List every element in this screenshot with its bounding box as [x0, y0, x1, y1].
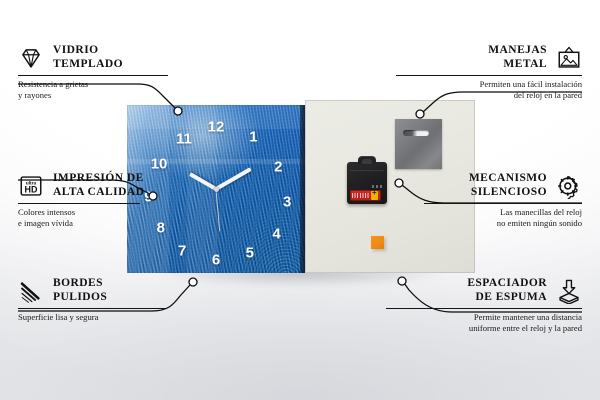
callout-rule-mecanismo	[424, 203, 582, 204]
clock-numeral-4: 4	[272, 227, 280, 242]
clock-numeral-2: 2	[274, 160, 282, 175]
movement-hanger-tab	[358, 156, 376, 165]
callout-title-vidrio-templado: VIDRIO TEMPLADO	[53, 44, 123, 71]
callout-header-mecanismo: MECANISMO SILENCIOSO	[424, 172, 582, 199]
callout-rule-impresion	[18, 203, 140, 204]
ultra-hd-icon: ultra HD	[18, 173, 44, 199]
product-photo: 12 1 2 3 4 5 6 7 8 9 10 11	[127, 105, 475, 273]
hanger-keyhole-slot	[403, 130, 429, 136]
callout-espaciador-espuma[interactable]: ESPACIADOR DE ESPUMA Permite mantener un…	[386, 277, 582, 333]
callout-rule-espaciador	[386, 308, 582, 309]
metal-hanger-plate	[395, 119, 442, 169]
callout-header-impresion: ultra HD IMPRESIÓN DE ALTA CALIDAD	[18, 172, 144, 199]
callout-title-mecanismo: MECANISMO SILENCIOSO	[469, 172, 547, 199]
callout-title-bordes: BORDES PULIDOS	[53, 277, 107, 304]
clock-face-panel: 12 1 2 3 4 5 6 7 8 9 10 11	[127, 105, 305, 273]
callout-header-bordes: BORDES PULIDOS	[18, 277, 166, 304]
clock-numeral-3: 3	[283, 195, 291, 210]
clock-numeral-12: 12	[208, 119, 225, 134]
callout-vidrio-templado[interactable]: VIDRIO TEMPLADO Resistencia a grietas y …	[18, 44, 168, 100]
battery-polarity-marker	[371, 191, 378, 200]
clock-numeral-1: 1	[249, 129, 257, 144]
callout-rule-vidrio-templado	[18, 75, 168, 76]
callout-title-espaciador: ESPACIADOR DE ESPUMA	[467, 277, 547, 304]
clock-numeral-6: 6	[212, 252, 220, 267]
polished-edges-icon	[18, 278, 44, 304]
clock-center-cap	[214, 187, 219, 192]
framed-picture-icon	[556, 45, 582, 71]
battery-compartment-label	[350, 190, 381, 201]
callout-header-vidrio-templado: VIDRIO TEMPLADO	[18, 44, 168, 71]
callout-header-espaciador: ESPACIADOR DE ESPUMA	[386, 277, 582, 304]
clock-numeral-7: 7	[178, 244, 186, 259]
clock-numeral-10: 10	[151, 156, 168, 171]
clock-numeral-11: 11	[176, 131, 192, 146]
callout-bordes-pulidos[interactable]: BORDES PULIDOS Superficie lisa y segura	[18, 277, 166, 323]
gear-icon	[556, 173, 582, 199]
callout-mecanismo-silencioso[interactable]: MECANISMO SILENCIOSO Las manecillas del …	[424, 172, 582, 228]
callout-header-manejas: MANEJAS METAL	[396, 44, 582, 71]
foam-spacer-pad	[371, 236, 384, 249]
callout-title-impresion: IMPRESIÓN DE ALTA CALIDAD	[53, 172, 144, 199]
infographic-canvas: 12 1 2 3 4 5 6 7 8 9 10 11	[0, 0, 600, 400]
clock-numeral-5: 5	[246, 245, 254, 260]
clock-numeral-9: 9	[144, 190, 152, 205]
callout-rule-manejas	[396, 75, 582, 76]
foam-spacer-icon	[556, 278, 582, 304]
quartz-movement-box	[347, 162, 387, 204]
svg-text:HD: HD	[25, 184, 38, 194]
callout-title-manejas: MANEJAS METAL	[488, 44, 547, 71]
callout-rule-bordes	[18, 308, 166, 309]
movement-seam	[350, 170, 384, 171]
clock-numeral-8: 8	[157, 220, 165, 235]
callout-manejas-metal[interactable]: MANEJAS METAL Permiten una fácil instala…	[396, 44, 582, 100]
diamond-icon	[18, 45, 44, 71]
callout-impresion-alta-calidad[interactable]: ultra HD IMPRESIÓN DE ALTA CALIDAD Color…	[18, 172, 144, 228]
